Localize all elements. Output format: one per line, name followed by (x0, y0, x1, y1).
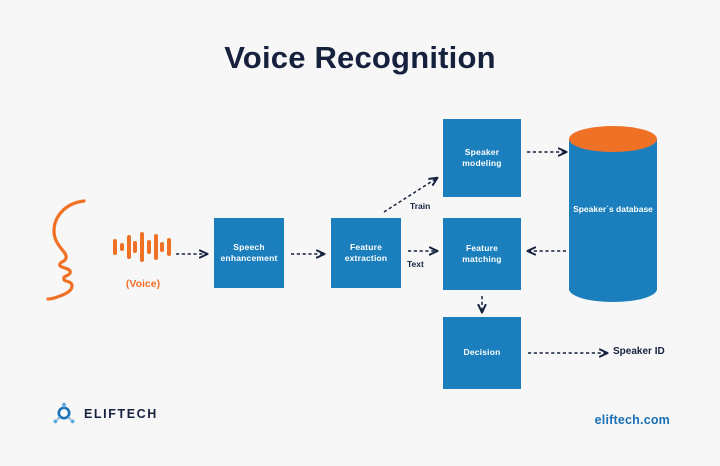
node-decision[interactable]: Decision (443, 317, 521, 389)
node-feature-extraction[interactable]: Feature extraction (331, 218, 401, 288)
node-speaker-modeling[interactable]: Speaker modeling (443, 119, 521, 197)
voice-label: (Voice) (104, 278, 182, 290)
page-title: Voice Recognition (0, 40, 720, 76)
edge-label-train: Train (410, 201, 430, 211)
database-label: Speaker`s database (569, 204, 657, 215)
node-speakers-database[interactable]: Speaker`s database (569, 126, 657, 301)
node-speech-enhancement[interactable]: Speech enhancement (214, 218, 284, 288)
logo-text: ELIFTECH (84, 407, 158, 421)
cylinder-top-ellipse (569, 126, 657, 152)
footer-url[interactable]: eliftech.com (595, 413, 670, 427)
sound-wave-icon (113, 230, 171, 264)
wave-bar (113, 239, 117, 255)
wave-bar (140, 232, 144, 262)
wave-bar (147, 240, 151, 254)
wave-bar (154, 234, 158, 260)
wave-bar (127, 235, 131, 259)
wave-bar (133, 241, 137, 253)
wave-bar (120, 243, 124, 251)
wave-bar (160, 242, 164, 252)
output-speaker-id-label: Speaker ID (613, 346, 665, 357)
footer-logo[interactable]: ELIFTECH (52, 402, 158, 426)
voice-recognition-diagram: Voice Recognition (Voice) Speech enhance… (0, 0, 720, 466)
edge-label-text: Text (407, 259, 424, 269)
wave-bar (167, 238, 171, 256)
node-feature-matching[interactable]: Feature matching (443, 218, 521, 290)
eliftech-atom-logo-icon (52, 402, 76, 426)
